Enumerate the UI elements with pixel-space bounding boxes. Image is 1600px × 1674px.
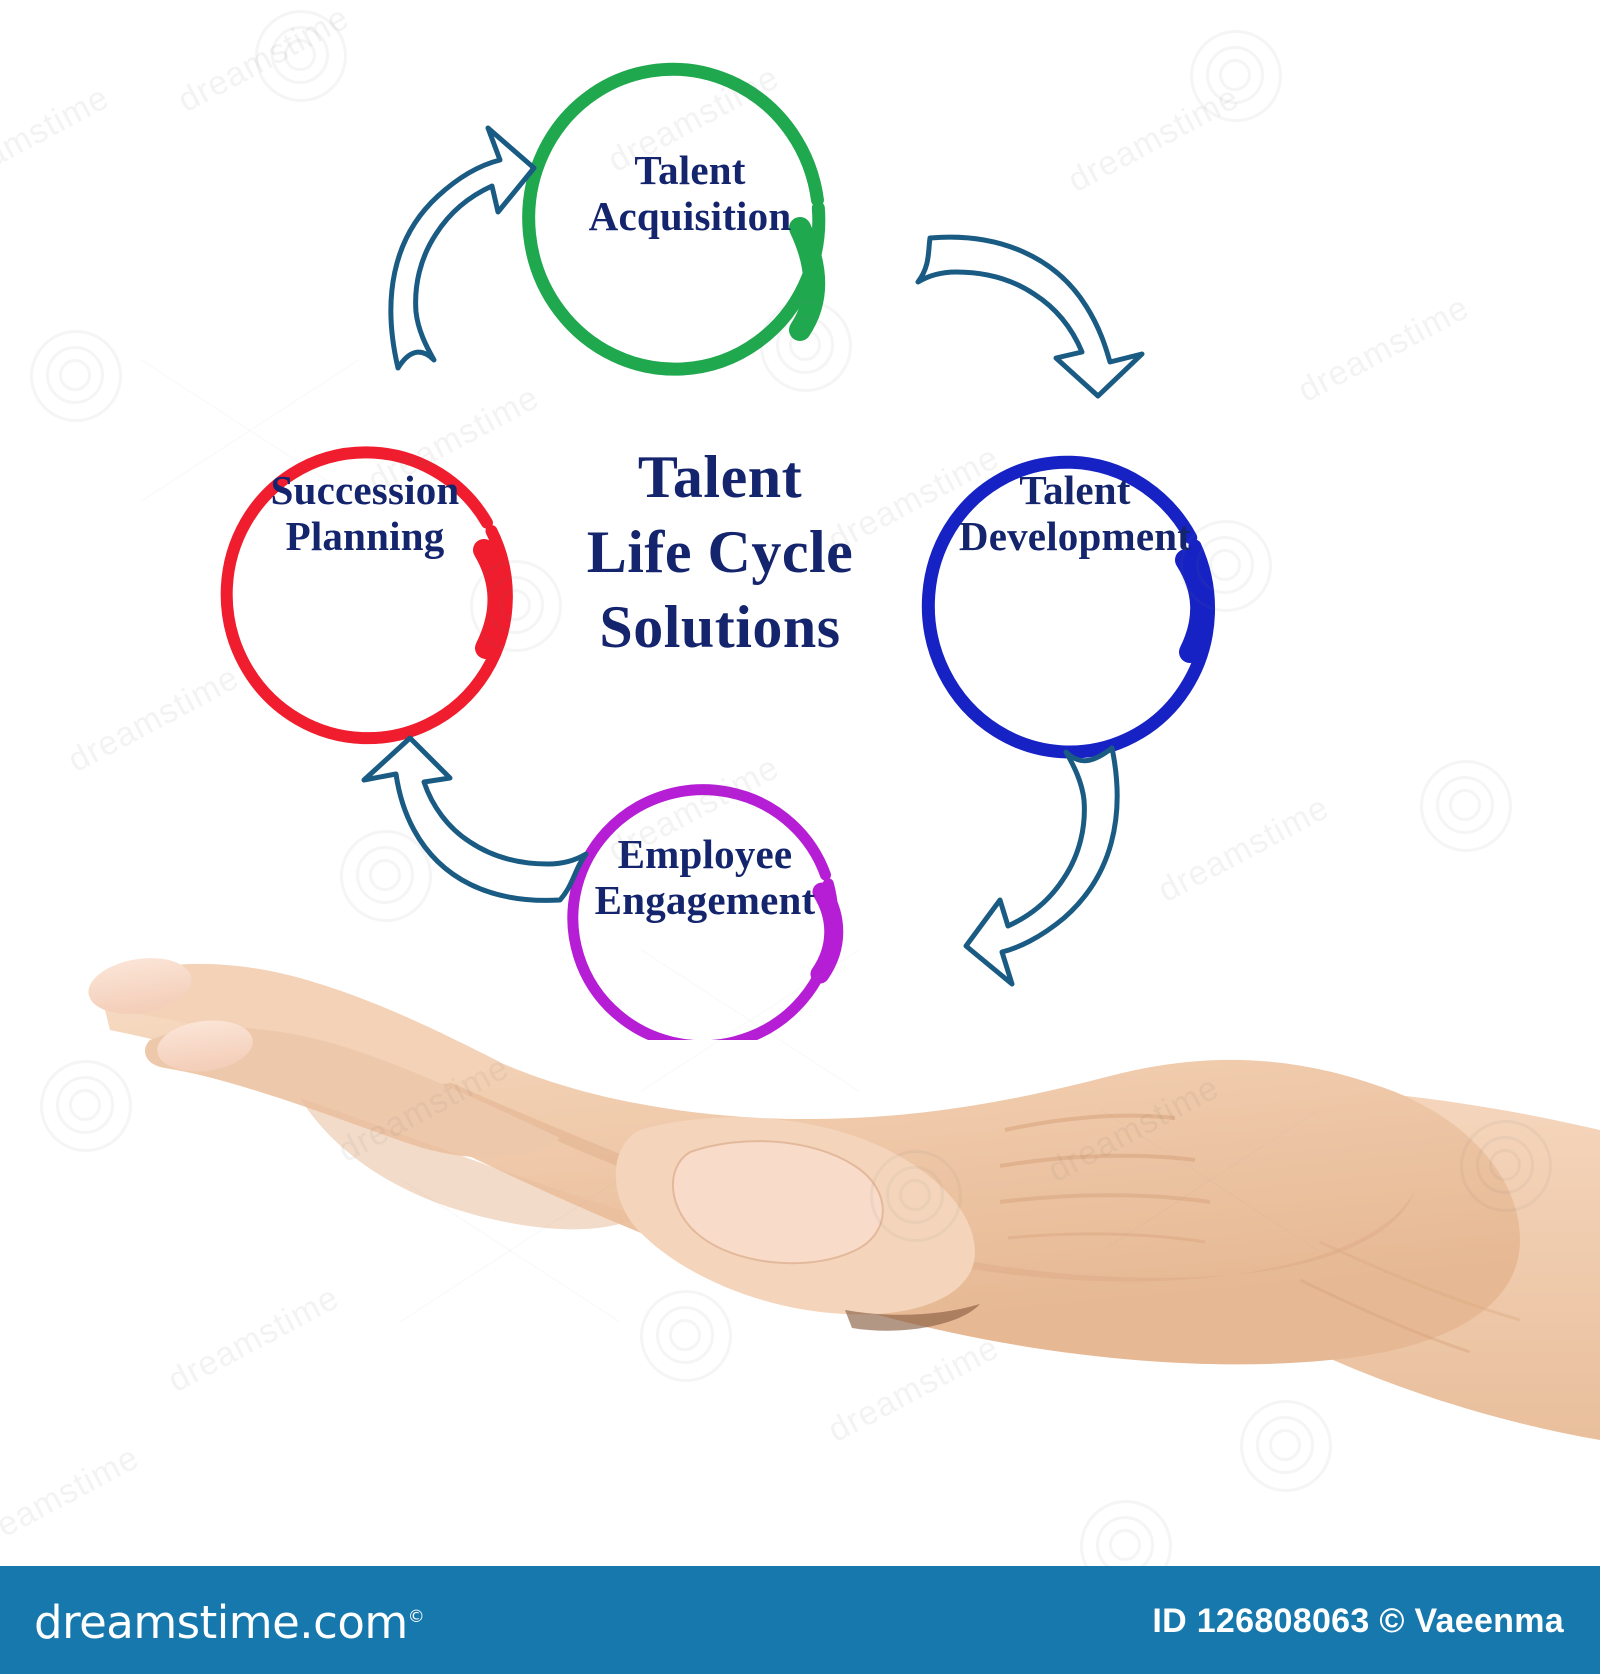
screenshot-root: Talent Acquisition Talent Development Em…	[0, 0, 1600, 1674]
image-credit: ID 126808063 © Vaeenma	[1152, 1602, 1564, 1641]
node-label-succession-planning: Succession Planning	[210, 468, 520, 560]
cycle-diagram: Talent Acquisition Talent Development Em…	[0, 0, 1600, 1040]
node-label-talent-acquisition: Talent Acquisition	[545, 148, 835, 240]
arrow-acquisition-to-development	[918, 237, 1142, 396]
diagram-center-title: Talent Life Cycle Solutions	[520, 440, 920, 665]
arrow-development-to-engagement	[966, 748, 1117, 984]
registered-mark-icon: ©	[408, 1607, 425, 1627]
dreamstime-logo-text: dreamstime.com	[34, 1596, 408, 1649]
node-label-employee-engagement: Employee Engagement	[550, 832, 860, 924]
footer-bar: dreamstime.com© ID 126808063 © Vaeenma	[0, 1566, 1600, 1674]
arrow-succession-to-acquisition	[391, 128, 534, 368]
dreamstime-logo[interactable]: dreamstime.com©	[34, 1596, 425, 1649]
node-label-talent-development: Talent Development	[920, 468, 1230, 560]
